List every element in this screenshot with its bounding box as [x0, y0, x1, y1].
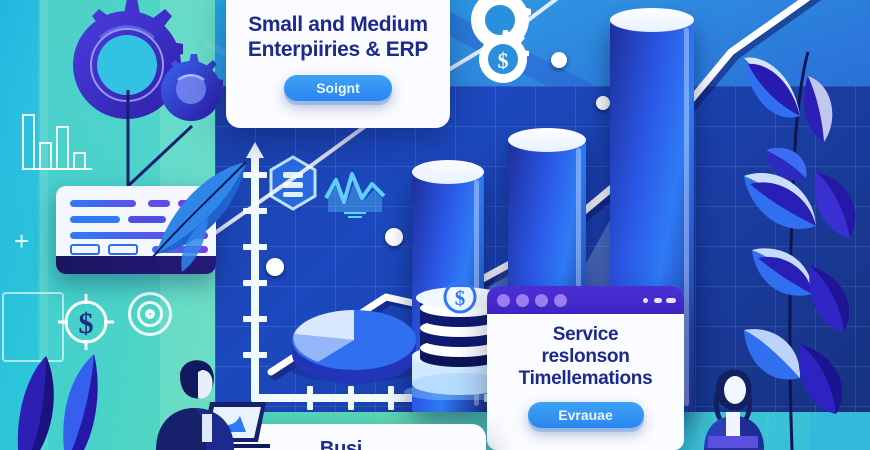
window-heading-line-2: reslonson [495, 346, 676, 368]
svg-text:$: $ [498, 48, 509, 73]
window-card-button[interactable]: Evrauae [528, 402, 644, 428]
plant-icon [744, 0, 870, 450]
leaf-icon [142, 156, 272, 272]
minimize-icon[interactable] [643, 298, 648, 303]
window-dot[interactable] [516, 294, 529, 307]
leaf-icon [6, 338, 136, 450]
title-card: Small and Medium Enterpiiries & ERP Soig… [226, 0, 450, 128]
maximize-icon[interactable] [654, 298, 662, 303]
bar-gloss [684, 28, 689, 406]
window-titlebar [487, 286, 684, 314]
window-body: Service reslonson Timellemations Evrauae [487, 314, 684, 450]
window-heading-line-3: Timellemations [495, 368, 676, 390]
bullseye-icon [145, 309, 155, 319]
bar-cap [610, 8, 694, 32]
window-dot[interactable] [554, 294, 567, 307]
svg-text:$: $ [455, 286, 466, 310]
bar-cap [412, 160, 484, 184]
title-card-heading-line-2: Enterpiiries & ERP [238, 37, 438, 62]
window-dot[interactable] [535, 294, 548, 307]
person-male-icon [140, 358, 250, 450]
bar-cap [508, 128, 586, 152]
service-window-card: Service reslonson Timellemations Evrauae [487, 286, 684, 450]
gear-dollar-icon: $ [472, 28, 534, 90]
close-icon[interactable] [666, 298, 676, 303]
title-card-heading-line-1: Small and Medium [238, 12, 438, 37]
hero-illustration: + $ [0, 0, 870, 450]
title-card-button[interactable]: Soignt [284, 75, 392, 101]
window-dot[interactable] [497, 294, 510, 307]
svg-text:$: $ [79, 307, 94, 340]
window-heading-line-1: Service [495, 324, 676, 346]
